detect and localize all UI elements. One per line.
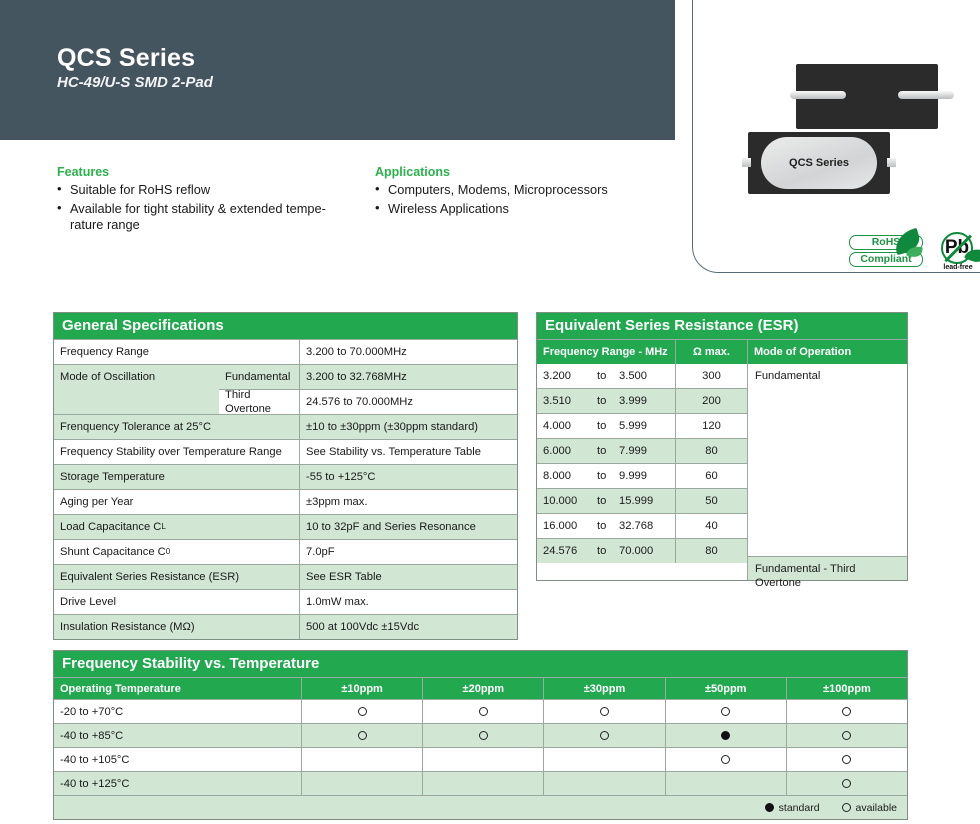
range-from: 8.000: [543, 469, 597, 483]
availability-cell: [422, 772, 543, 795]
standard-dot-icon: [721, 731, 730, 740]
applications-heading: Applications: [375, 165, 450, 179]
row-label: Shunt Capacitance C0: [54, 540, 299, 564]
ohm-max-cell: 50: [675, 489, 747, 513]
table-row: -20 to +70°C: [54, 699, 907, 723]
table-row: Equivalent Series Resistance (ESR)See ES…: [54, 564, 517, 589]
range-to: 3.999: [619, 394, 647, 408]
table-row: -40 to +125°C: [54, 771, 907, 795]
range-to: 70.000: [619, 544, 653, 558]
available-circle-icon: [721, 707, 730, 716]
row-label: Load Capacitance CL: [54, 515, 299, 539]
row-value: 3.200 to 70.000MHz: [299, 340, 517, 364]
available-circle-icon: [358, 707, 367, 716]
available-circle-icon: [479, 707, 488, 716]
crystal-can: QCS Series: [761, 137, 877, 189]
range-to: 7.999: [619, 444, 647, 458]
column-header: ±10ppm: [301, 678, 422, 699]
pad-left: [790, 91, 846, 99]
pad-stub-right: [887, 158, 896, 167]
range-separator: to: [597, 519, 619, 533]
lead-free-caption: lead-free: [934, 264, 980, 271]
table-row: Fundamental3.200 to 32.768MHz: [219, 365, 517, 389]
availability-cell: [301, 724, 422, 747]
standard-dot-icon: [765, 803, 774, 812]
esr-table: Equivalent Series Resistance (ESR) Frequ…: [536, 312, 908, 581]
page-subtitle: HC-49/U-S SMD 2-Pad: [57, 74, 213, 91]
availability-cell: [543, 772, 664, 795]
table-row: 24.576to70.00080: [537, 538, 747, 563]
row-value: 10 to 32pF and Series Resonance: [299, 515, 517, 539]
availability-cell: [786, 772, 907, 795]
table-row: 16.000to32.76840: [537, 513, 747, 538]
row-label: Equivalent Series Resistance (ESR): [54, 565, 299, 589]
table-row: Storage Temperature-55 to +125°C: [54, 464, 517, 489]
frequency-range-cell: 16.000to32.768: [537, 514, 675, 538]
features-list: Suitable for RoHS reflow Available for t…: [57, 182, 357, 236]
table-row: 6.000to7.99980: [537, 438, 747, 463]
list-item: Suitable for RoHS reflow: [57, 182, 357, 199]
range-from: 24.576: [543, 544, 597, 558]
availability-cell: [665, 700, 786, 723]
availability-cell: [301, 700, 422, 723]
row-value: 24.576 to 70.000MHz: [299, 390, 517, 414]
table-title: Equivalent Series Resistance (ESR): [537, 313, 907, 339]
range-separator: to: [597, 469, 619, 483]
row-value: 7.0pF: [299, 540, 517, 564]
table-header-row: Operating Temperature ±10ppm ±20ppm ±30p…: [54, 677, 907, 699]
row-label: Aging per Year: [54, 490, 299, 514]
available-circle-icon: [842, 707, 851, 716]
range-to: 32.768: [619, 519, 653, 533]
table-title: General Specifications: [54, 313, 517, 339]
column-header: Ω max.: [675, 340, 747, 364]
availability-cell: [543, 700, 664, 723]
legend-label: available: [856, 802, 897, 814]
available-circle-icon: [842, 803, 851, 812]
product-image-card: QCS Series RoHS Compliant Pb lead-free: [692, 0, 980, 273]
row-value: See Stability vs. Temperature Table: [299, 440, 517, 464]
table-row: 8.000to9.99960: [537, 463, 747, 488]
availability-cell: [786, 700, 907, 723]
ohm-max-cell: 80: [675, 539, 747, 563]
available-circle-icon: [842, 755, 851, 764]
row-value: ±10 to ±30ppm (±30ppm standard): [299, 415, 517, 439]
frequency-range-cell: 3.200to3.500: [537, 364, 675, 388]
available-circle-icon: [842, 779, 851, 788]
range-to: 9.999: [619, 469, 647, 483]
mode-of-operation-cell: Fundamental - Third Overtone: [748, 556, 907, 580]
column-header: ±100ppm: [786, 678, 907, 699]
availability-cell: [422, 748, 543, 771]
legend-label: standard: [779, 802, 820, 814]
range-separator: to: [597, 494, 619, 508]
list-item: Available for tight stability & extended…: [57, 201, 357, 234]
table-row: -40 to +85°C: [54, 723, 907, 747]
table-row: 10.000to15.99950: [537, 488, 747, 513]
pad-right: [898, 91, 954, 99]
general-specifications-table: General Specifications Frequency Range3.…: [53, 312, 518, 640]
operating-temperature-cell: -40 to +85°C: [54, 724, 301, 747]
range-separator: to: [597, 444, 619, 458]
available-circle-icon: [600, 707, 609, 716]
availability-cell: [786, 748, 907, 771]
frequency-range-cell: 8.000to9.999: [537, 464, 675, 488]
legend-item: standard: [765, 802, 820, 814]
availability-cell: [786, 724, 907, 747]
range-separator: to: [597, 544, 619, 558]
range-separator: to: [597, 419, 619, 433]
table-row: -40 to +105°C: [54, 747, 907, 771]
table-row: Drive Level1.0mW max.: [54, 589, 517, 614]
operating-temperature-cell: -40 to +125°C: [54, 772, 301, 795]
row-label: Storage Temperature: [54, 465, 299, 489]
ohm-max-cell: 80: [675, 439, 747, 463]
table-row: Aging per Year±3ppm max.: [54, 489, 517, 514]
row-label: Drive Level: [54, 590, 299, 614]
column-header: Operating Temperature: [54, 678, 301, 699]
frequency-stability-table: Frequency Stability vs. Temperature Oper…: [53, 650, 908, 820]
features-heading: Features: [57, 165, 109, 179]
list-item: Computers, Modems, Microprocessors: [375, 182, 675, 199]
package-label: QCS Series: [789, 157, 849, 169]
table-row: Load Capacitance CL10 to 32pF and Series…: [54, 514, 517, 539]
esr-frequency-column: 3.200to3.5003003.510to3.9992004.000to5.9…: [537, 364, 747, 580]
column-header: Mode of Operation: [747, 340, 907, 364]
table-body: -20 to +70°C-40 to +85°C-40 to +105°C-40…: [54, 699, 907, 795]
table-row-group: Mode of OscillationFundamental3.200 to 3…: [54, 364, 517, 414]
legend-item: available: [842, 802, 897, 814]
ohm-max-cell: 120: [675, 414, 747, 438]
table-row: Frenquency Tolerance at 25°C±10 to ±30pp…: [54, 414, 517, 439]
range-from: 4.000: [543, 419, 597, 433]
rohs-compliant-logo: RoHS Compliant: [849, 235, 923, 268]
table-row: Third Overtone24.576 to 70.000MHz: [219, 389, 517, 414]
row-sublabel: Fundamental: [219, 365, 299, 389]
table-row: Frequency Range3.200 to 70.000MHz: [54, 339, 517, 364]
ohm-max-cell: 60: [675, 464, 747, 488]
applications-list: Computers, Modems, Microprocessors Wirel…: [375, 182, 675, 219]
row-label: Mode of Oscillation: [54, 365, 219, 414]
row-label: Frequency Range: [54, 340, 299, 364]
table-row: Frequency Stability over Temperature Ran…: [54, 439, 517, 464]
ohm-max-cell: 40: [675, 514, 747, 538]
row-label: Insulation Resistance (MΩ): [54, 615, 299, 639]
mode-of-operation-cell: Fundamental: [748, 364, 907, 556]
range-from: 16.000: [543, 519, 597, 533]
row-value: 1.0mW max.: [299, 590, 517, 614]
availability-cell: [665, 748, 786, 771]
range-from: 3.510: [543, 394, 597, 408]
table-body: Frequency Range3.200 to 70.000MHzMode of…: [54, 339, 517, 639]
availability-cell: [301, 748, 422, 771]
availability-cell: [301, 772, 422, 795]
range-separator: to: [597, 369, 619, 383]
ohm-max-cell: 200: [675, 389, 747, 413]
column-header: Frequency Range - MHz: [537, 340, 675, 364]
frequency-range-cell: 6.000to7.999: [537, 439, 675, 463]
table-row: 3.510to3.999200: [537, 388, 747, 413]
esr-mode-column: FundamentalFundamental - Third Overtone: [747, 364, 907, 580]
row-label: Frequency Stability over Temperature Ran…: [54, 440, 299, 464]
range-from: 10.000: [543, 494, 597, 508]
package-top-view-image: [796, 64, 938, 129]
row-value: See ESR Table: [299, 565, 517, 589]
availability-cell: [665, 772, 786, 795]
range-to: 15.999: [619, 494, 653, 508]
row-value: -55 to +125°C: [299, 465, 517, 489]
range-to: 5.999: [619, 419, 647, 433]
availability-cell: [543, 724, 664, 747]
range-to: 3.500: [619, 369, 647, 383]
row-value: 500 at 100Vdc ±15Vdc: [299, 615, 517, 639]
table-header-row: Frequency Range - MHz Ω max. Mode of Ope…: [537, 339, 907, 364]
table-title: Frequency Stability vs. Temperature: [54, 651, 907, 677]
table-row: 4.000to5.999120: [537, 413, 747, 438]
availability-cell: [665, 724, 786, 747]
operating-temperature-cell: -20 to +70°C: [54, 700, 301, 723]
available-circle-icon: [842, 731, 851, 740]
table-row: 3.200to3.500300: [537, 364, 747, 388]
available-circle-icon: [600, 731, 609, 740]
package-front-view-image: QCS Series: [748, 132, 890, 194]
pad-stub-left: [742, 158, 751, 167]
available-circle-icon: [358, 731, 367, 740]
esr-body: 3.200to3.5003003.510to3.9992004.000to5.9…: [537, 364, 907, 580]
table-legend: standardavailable: [54, 795, 907, 819]
row-label: Frenquency Tolerance at 25°C: [54, 415, 299, 439]
row-sublabel: Third Overtone: [219, 390, 299, 414]
lead-free-logo: Pb lead-free: [935, 232, 980, 274]
availability-cell: [422, 700, 543, 723]
page-title: QCS Series: [57, 44, 195, 73]
availability-cell: [543, 748, 664, 771]
row-value: ±3ppm max.: [299, 490, 517, 514]
range-from: 6.000: [543, 444, 597, 458]
range-separator: to: [597, 394, 619, 408]
compliance-logos: RoHS Compliant Pb lead-free: [849, 232, 980, 274]
row-value: 3.200 to 32.768MHz: [299, 365, 517, 389]
table-row: Insulation Resistance (MΩ)500 at 100Vdc …: [54, 614, 517, 639]
datasheet-page: QCS Series HC-49/U-S SMD 2-Pad QCS Serie…: [0, 0, 980, 824]
list-item: Wireless Applications: [375, 201, 675, 218]
column-header: ±50ppm: [665, 678, 786, 699]
available-circle-icon: [721, 755, 730, 764]
frequency-range-cell: 4.000to5.999: [537, 414, 675, 438]
frequency-range-cell: 24.576to70.000: [537, 539, 675, 563]
frequency-range-cell: 3.510to3.999: [537, 389, 675, 413]
column-header: ±30ppm: [543, 678, 664, 699]
operating-temperature-cell: -40 to +105°C: [54, 748, 301, 771]
column-header: ±20ppm: [422, 678, 543, 699]
frequency-range-cell: 10.000to15.999: [537, 489, 675, 513]
ohm-max-cell: 300: [675, 364, 747, 388]
table-row: Shunt Capacitance C07.0pF: [54, 539, 517, 564]
availability-cell: [422, 724, 543, 747]
range-from: 3.200: [543, 369, 597, 383]
available-circle-icon: [479, 731, 488, 740]
